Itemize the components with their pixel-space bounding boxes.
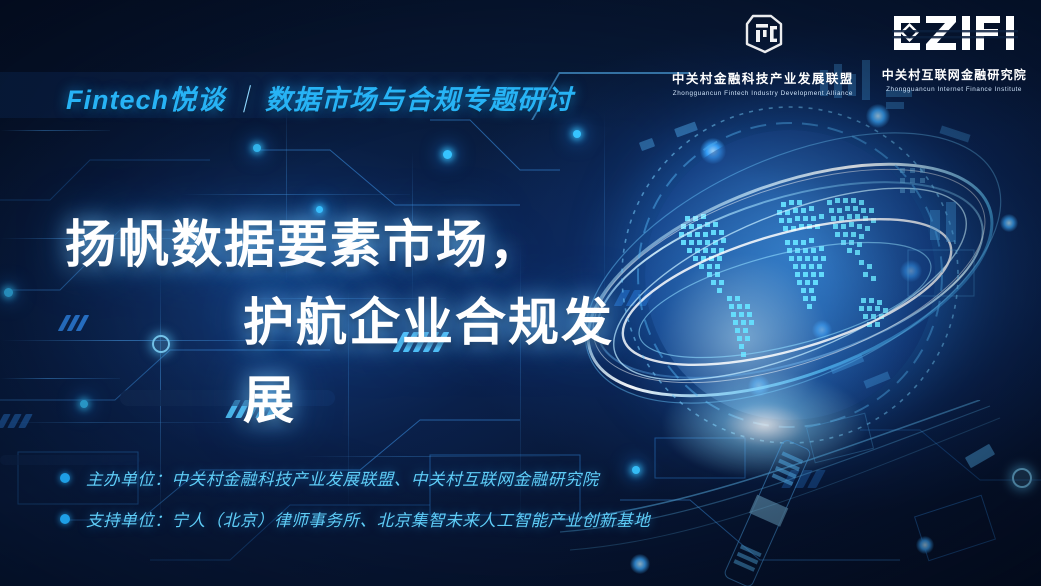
logo-czifi-en-name: Zhongguancun Internet Finance Institute [886, 86, 1022, 93]
logo-czifi: 中关村互联网金融研究院 Zhongguancun Internet Financ… [882, 10, 1027, 93]
logo-zgc-fintech-alliance: 中关村金融科技产业发展联盟 Zhongguancun Fintech Indus… [670, 10, 856, 97]
banner-prefix: Fintech悦谈 [66, 85, 225, 115]
zgc-fintech-alliance-cube-mark [737, 10, 789, 63]
banner-separator: ｜ [225, 85, 265, 115]
tech-pill-decoration [690, 430, 850, 586]
tech-bar [0, 455, 140, 465]
title-line-2: 护航企业合规发展 [0, 284, 640, 440]
supporter-text: 支持单位：宁人（北京）律师事务所、北京集智未来人工智能产业创新基地 [86, 507, 650, 531]
title-line-1: 扬帆数据要素市场， [0, 206, 640, 284]
organizer-text: 主办单位：中关村金融科技产业发展联盟、中关村互联网金融研究院 [86, 466, 599, 490]
poster-main-title: 扬帆数据要素市场， 护航企业合规发展 [0, 206, 640, 440]
organizer-row: 主办单位：中关村金融科技产业发展联盟、中关村互联网金融研究院 [60, 466, 650, 490]
logo-group: 中关村金融科技产业发展联盟 Zhongguancun Fintech Indus… [670, 10, 1027, 97]
bullet-icon [60, 473, 70, 483]
circuit-node [253, 144, 261, 152]
header-banner-text: Fintech悦谈｜数据市场与合规专题研讨 [66, 78, 573, 117]
event-poster: Fintech悦谈｜数据市场与合规专题研讨 [0, 0, 1041, 586]
supporter-row: 支持单位：宁人（北京）律师事务所、北京集智未来人工智能产业创新基地 [60, 507, 650, 531]
organizer-info-block: 主办单位：中关村金融科技产业发展联盟、中关村互联网金融研究院 支持单位：宁人（北… [60, 466, 650, 531]
banner-suffix: 数据市场与合规专题研讨 [265, 85, 573, 115]
logo-alliance-cn-name: 中关村金融科技产业发展联盟 [672, 68, 854, 87]
bullet-icon [60, 514, 70, 524]
logo-alliance-en-name: Zhongguancun Fintech Industry Developmen… [673, 90, 853, 97]
czifi-wordmark [890, 10, 1018, 61]
logo-czifi-cn-name: 中关村互联网金融研究院 [882, 66, 1027, 83]
circuit-node [443, 150, 452, 159]
